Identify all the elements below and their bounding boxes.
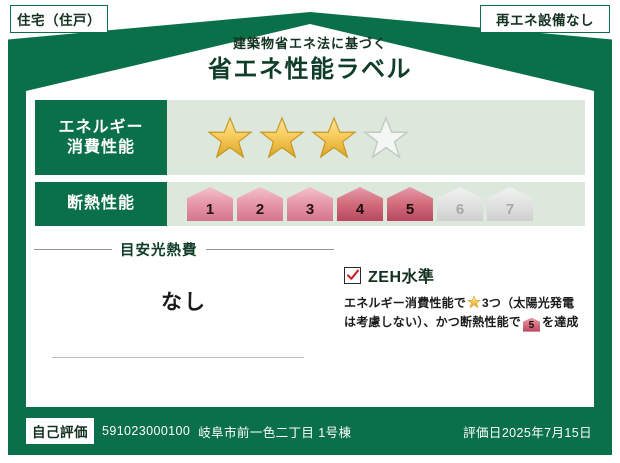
star-rating [207, 115, 409, 161]
evaluation-id: 591023000100 [102, 424, 190, 438]
property-address: 岐阜市前一色二丁目 1号棟 [190, 422, 351, 441]
zeh-desc-part-2: 3つ（太陽光発電 [482, 296, 574, 310]
rule-left [34, 249, 112, 250]
insulation-grade-badge: 6 [437, 187, 483, 221]
lower-section: 目安光熱費 なし ZEH水準 エネルギー消費性能で [34, 239, 586, 332]
label-content: エネルギー 消費性能 [34, 99, 586, 332]
check-icon [346, 268, 360, 282]
insulation-grade-badge: 5 [387, 187, 433, 221]
label-footer: 自己評価 591023000100 岐阜市前一色二丁目 1号棟 評価日2025年… [26, 418, 594, 444]
insulation-grade-badge-inline: 5 [523, 318, 540, 332]
insulation-performance-label: 断熱性能 [35, 182, 167, 226]
utility-cost-value: なし [34, 286, 334, 316]
heading-subtitle: 建築物省エネ法に基づく [0, 36, 620, 52]
zeh-title: ZEH水準 [368, 263, 435, 287]
zeh-desc-part-4: を達成 [542, 315, 579, 329]
rule-right [206, 249, 335, 250]
building-type-tag: 住宅（住戸） [10, 5, 108, 33]
insulation-grade-badge: 3 [287, 187, 333, 221]
insulation-grade-badge: 7 [487, 187, 533, 221]
evaluation-type-badge: 自己評価 [26, 418, 94, 444]
zeh-heading: ZEH水準 [344, 263, 586, 287]
zeh-checkbox[interactable] [344, 267, 361, 284]
zeh-description: エネルギー消費性能で 3つ（太陽光発電は考慮しない）、かつ断熱性能で5を達成 [344, 294, 586, 332]
utility-cost-underline [52, 357, 304, 358]
zeh-desc-part-1: エネルギー消費性能で [344, 296, 466, 310]
zeh-section: ZEH水準 エネルギー消費性能で 3つ（太陽光発電は考慮しない）、かつ断熱性能で… [334, 239, 586, 332]
page-title: 省エネ性能ラベル [0, 54, 620, 85]
insulation-grade-scale: 1 2 3 4 5 6 7 [187, 187, 533, 221]
insulation-performance-value: 1 2 3 4 5 6 7 [167, 182, 585, 226]
utility-cost-heading: 目安光熱費 [34, 239, 334, 260]
insulation-grade-badge: 2 [237, 187, 283, 221]
insulation-grade-badge: 1 [187, 187, 233, 221]
star-icon-empty [363, 115, 409, 161]
energy-performance-value [167, 100, 585, 175]
zeh-desc-part-3: は考慮しない）、かつ断熱性能で [344, 315, 521, 329]
star-icon-filled [311, 115, 357, 161]
evaluation-date: 評価日2025年7月15日 [463, 422, 594, 441]
energy-label-line-2: 消費性能 [67, 139, 135, 156]
utility-cost-heading-text: 目安光熱費 [120, 239, 198, 260]
utility-cost-section: 目安光熱費 なし [34, 239, 334, 332]
energy-label-line-1: エネルギー [58, 119, 143, 136]
star-icon-filled [259, 115, 305, 161]
star-icon-filled [207, 115, 253, 161]
renewable-energy-tag: 再エネ設備なし [480, 5, 610, 33]
energy-performance-label: 住宅（住戸） 再エネ設備なし 建築物省エネ法に基づく 省エネ性能ラベル エネルギ… [0, 0, 620, 463]
star-icon-inline [467, 295, 481, 309]
insulation-performance-row: 断熱性能 1 2 3 4 5 6 7 [34, 181, 586, 227]
label-heading: 建築物省エネ法に基づく 省エネ性能ラベル [0, 36, 620, 85]
insulation-grade-badge: 4 [337, 187, 383, 221]
energy-performance-label: エネルギー 消費性能 [35, 100, 167, 175]
energy-performance-row: エネルギー 消費性能 [34, 99, 586, 176]
